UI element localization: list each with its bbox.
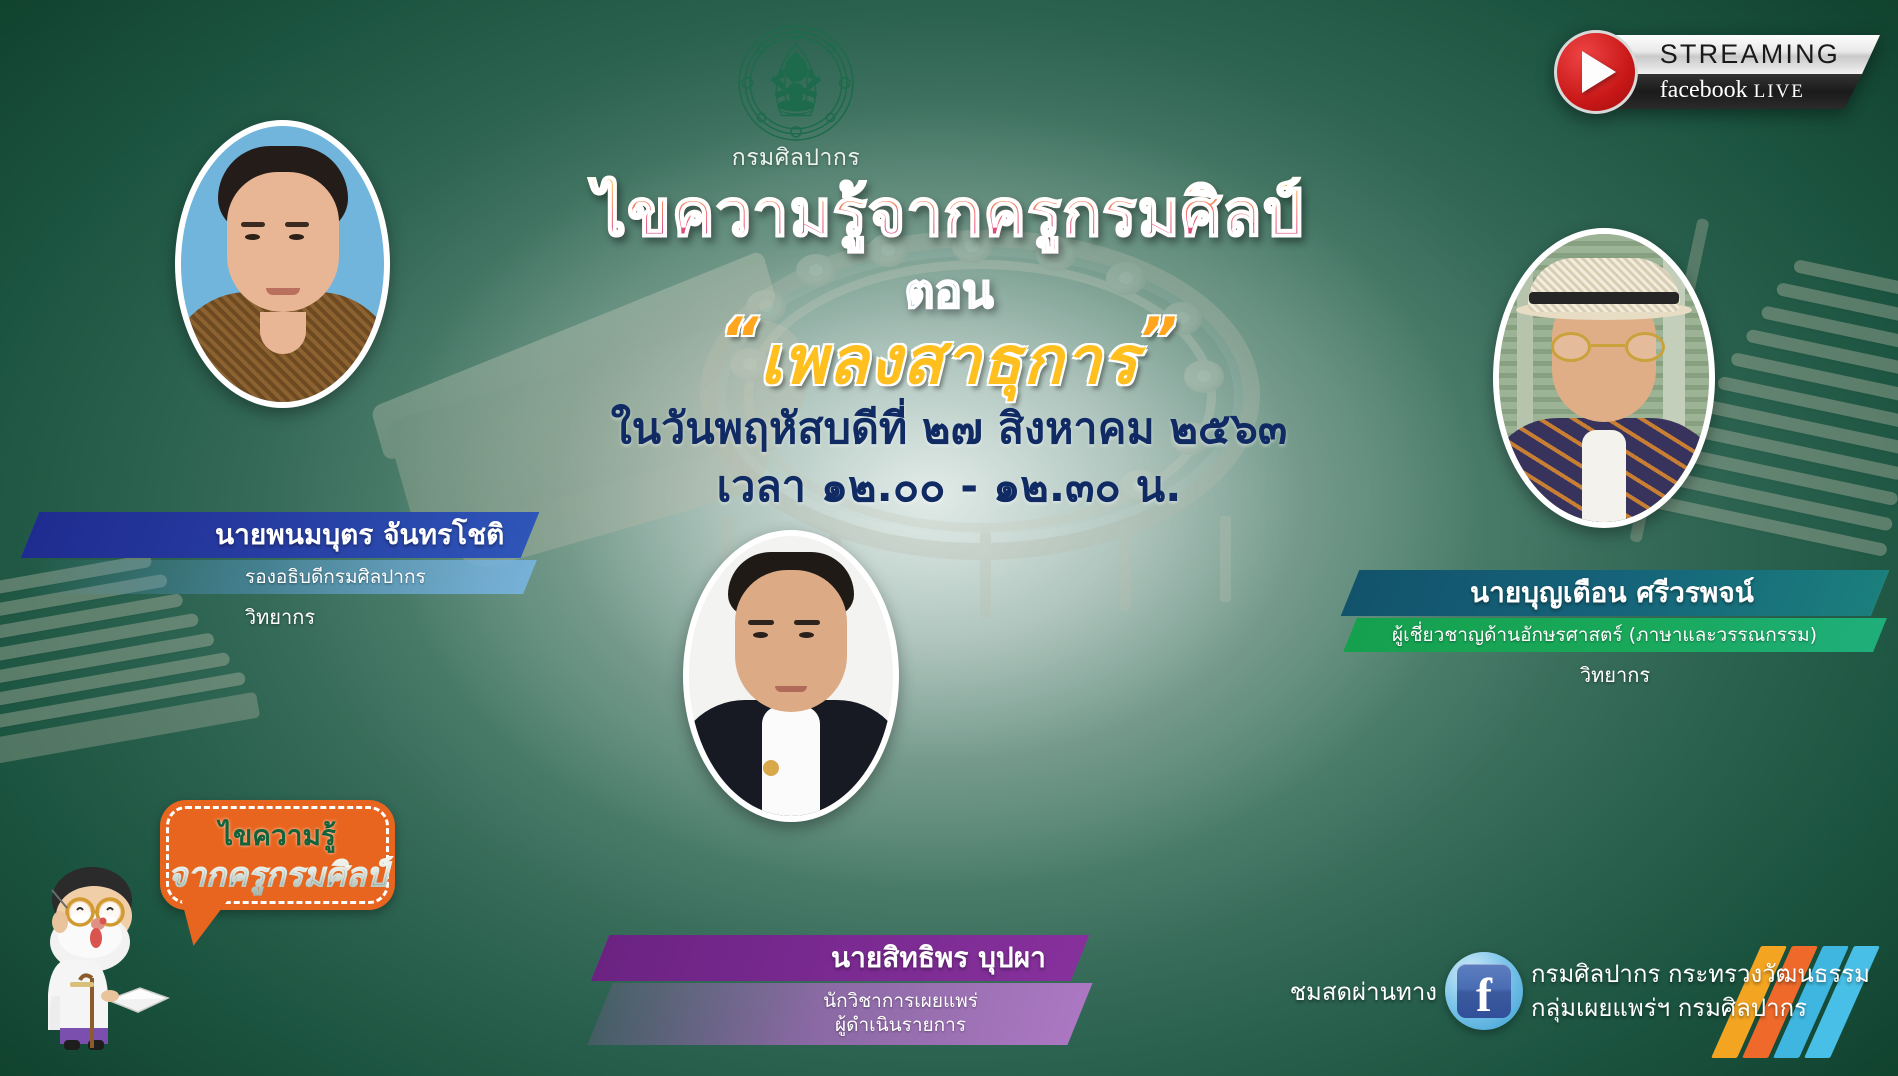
streaming-badge[interactable]: STREAMING facebookLIVE — [1554, 30, 1880, 114]
speaker-banner-1: นายพนมบุตร จันทรโชติ รองอธิบดีกรมศิลปากร… — [30, 512, 530, 633]
facebook-icon[interactable]: f — [1445, 952, 1523, 1030]
close-quote: ” — [1138, 305, 1178, 375]
open-quote: “ — [720, 305, 760, 375]
speaker-2-position: ผู้เชี่ยวชาญด้านอักษรศาสตร์ (ภาษาและวรรณ… — [1392, 620, 1817, 650]
scholar-mascot-icon — [30, 850, 180, 1050]
bubble-line-2: จากครูกรมศิลป์ — [160, 848, 395, 901]
speaker-1-name: นายพนมบุตร จันทรโชติ — [215, 513, 504, 557]
speaker-3-name: นายสิทธิพร บุปผา — [831, 936, 1046, 980]
speaker-portrait-2 — [1493, 228, 1715, 528]
episode-title: เพลงสาธุการ — [760, 322, 1139, 399]
speaker-banner-2: นายบุญเตือน ศรีวรพจน์ ผู้เชี่ยวชาญด้านอั… — [1350, 570, 1880, 691]
ganesha-emblem-icon — [735, 22, 857, 144]
speaker-3-position-role: นักวิชาการเผยแพร่ ผู้ดำเนินรายการ — [823, 990, 978, 1038]
speaker-3-role: ผู้ดำเนินรายการ — [835, 1014, 966, 1036]
watch-live-footer: ชมสดผ่านทาง f กรมศิลปากร กระทรวงวัฒนธรรม… — [1290, 952, 1870, 1030]
speaker-2-name: นายบุญเตือน ศรีวรพจน์ — [1470, 571, 1754, 615]
speaker-3-position: นักวิชาการเผยแพร่ — [823, 990, 978, 1012]
speaker-portrait-3 — [683, 530, 899, 822]
mascot-speech-bubble: ไขความรู้ จากครูกรมศิลป์ — [160, 800, 395, 910]
facebook-page-1[interactable]: กรมศิลปากร กระทรวงวัฒนธรรม — [1531, 957, 1870, 991]
watch-live-label: ชมสดผ่านทาง — [1290, 972, 1437, 1011]
speaker-banner-3: นายสิทธิพร บุปผา นักวิชาการเผยแพร่ ผู้ดำ… — [600, 935, 1080, 1045]
event-poster: กรมศิลปากร STREAMING facebookLIVE ไขความ… — [0, 0, 1898, 1076]
play-button-icon[interactable] — [1554, 30, 1638, 114]
streaming-label: STREAMING — [1614, 35, 1880, 74]
facebook-word: facebook — [1660, 77, 1748, 103]
facebook-live-label: facebookLIVE — [1614, 74, 1880, 109]
speaker-portrait-1 — [175, 120, 390, 408]
live-word: LIVE — [1754, 81, 1805, 102]
speaker-1-position: รองอธิบดีกรมศิลปากร — [245, 562, 426, 592]
speaker-1-role: วิทยากร — [30, 601, 530, 633]
speaker-2-role: วิทยากร — [1350, 659, 1880, 691]
facebook-page-2[interactable]: กลุ่มเผยแพร่ฯ กรมศิลปากร — [1531, 991, 1870, 1025]
